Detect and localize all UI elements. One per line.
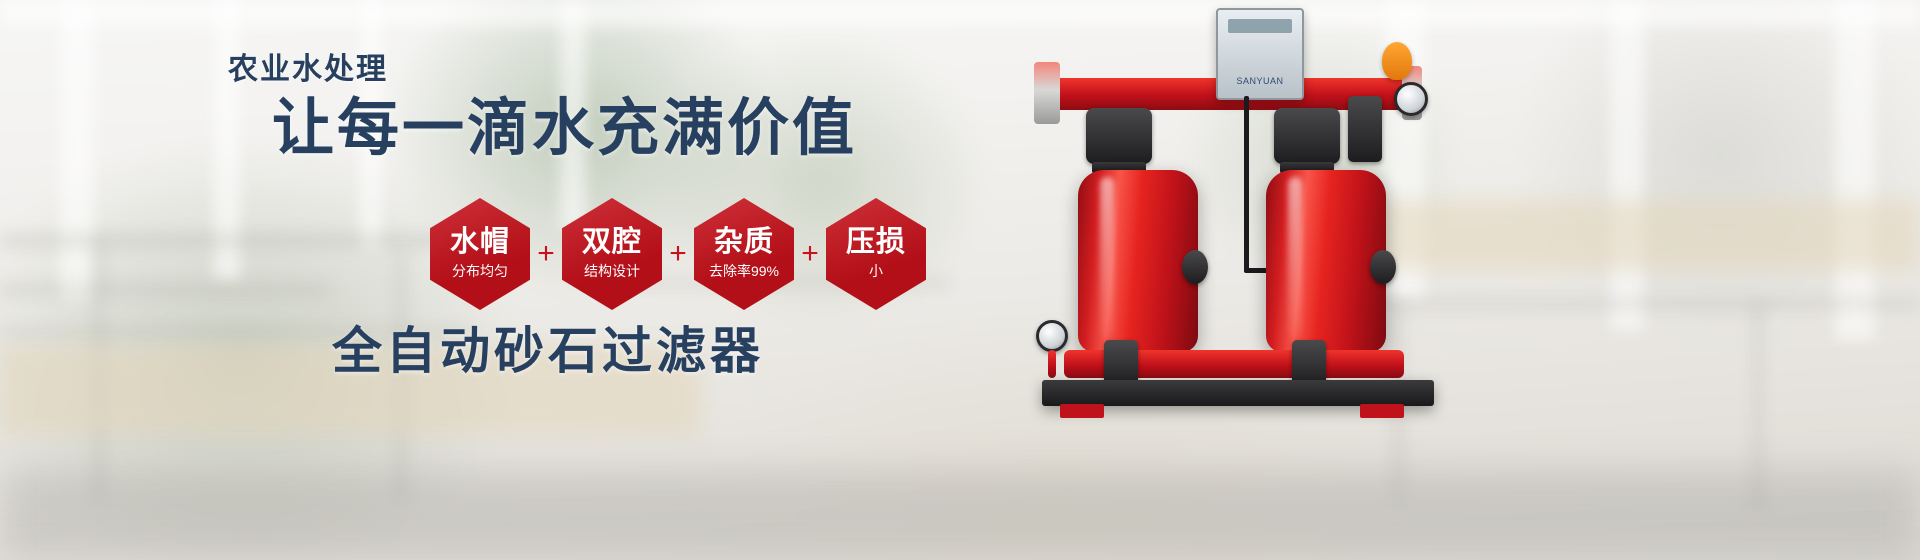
filter-tank-left bbox=[1078, 170, 1198, 352]
pressure-gauge-bottom bbox=[1036, 320, 1068, 352]
plus-separator-icon-3: + bbox=[794, 239, 826, 269]
skid-base-frame bbox=[1042, 380, 1434, 406]
bg-light-streak bbox=[1835, 0, 1875, 340]
skid-foot bbox=[1360, 404, 1404, 418]
tank-side-port-right bbox=[1370, 250, 1396, 284]
feature-badge-4: 压损 小 bbox=[826, 198, 926, 310]
bg-light-streak bbox=[1610, 0, 1644, 330]
banner-copy: 农业水处理 让每一滴水充满价值 水帽 分布均匀 + 双腔 结构设计 + 杂质 去… bbox=[0, 0, 1040, 560]
plus-separator-icon-1: + bbox=[530, 239, 562, 269]
promo-banner: SANYUAN 农业水处理 让每一滴水充满价值 bbox=[0, 0, 1920, 560]
feature-badge-2-subtitle: 结构设计 bbox=[584, 261, 640, 281]
product-image-filter-unit: SANYUAN bbox=[1030, 0, 1490, 560]
feature-badge-4-subtitle: 小 bbox=[869, 261, 883, 281]
butterfly-valve-right bbox=[1348, 96, 1382, 162]
feature-badge-1-title: 水帽 bbox=[450, 227, 510, 257]
feature-badge-2: 双腔 结构设计 bbox=[562, 198, 662, 310]
page-title: 让每一滴水充满价值 bbox=[272, 98, 857, 160]
feature-badge-3-title: 杂质 bbox=[714, 227, 774, 257]
gauge-stem-pipe bbox=[1048, 350, 1056, 378]
feature-badge-row: 水帽 分布均匀 + 双腔 结构设计 + 杂质 去除率99% + 压损 小 bbox=[430, 198, 926, 310]
skid-foot bbox=[1060, 404, 1104, 418]
feature-badge-4-title: 压损 bbox=[846, 227, 906, 257]
controller-brand-label: SANYUAN bbox=[1218, 76, 1302, 86]
feature-badge-3: 杂质 去除率99% bbox=[694, 198, 794, 310]
filter-tank-right bbox=[1266, 170, 1386, 352]
eyebrow-text: 农业水处理 bbox=[228, 44, 388, 88]
controller-cable bbox=[1244, 96, 1249, 272]
tank-side-port-left bbox=[1182, 250, 1208, 284]
controller-screen bbox=[1228, 19, 1292, 33]
pressure-gauge-top bbox=[1394, 82, 1428, 116]
controller-box: SANYUAN bbox=[1216, 8, 1304, 100]
plus-separator-icon-2: + bbox=[662, 239, 694, 269]
feature-badge-1-subtitle: 分布均匀 bbox=[452, 261, 508, 281]
feature-badge-2-title: 双腔 bbox=[582, 227, 642, 257]
feature-badge-3-subtitle: 去除率99% bbox=[709, 261, 779, 281]
tank-valve-right bbox=[1274, 108, 1340, 164]
air-release-valve bbox=[1382, 42, 1412, 80]
feature-badge-1: 水帽 分布均匀 bbox=[430, 198, 530, 310]
product-name-title: 全自动砂石过滤器 bbox=[332, 326, 764, 376]
tank-valve-left bbox=[1086, 108, 1152, 164]
